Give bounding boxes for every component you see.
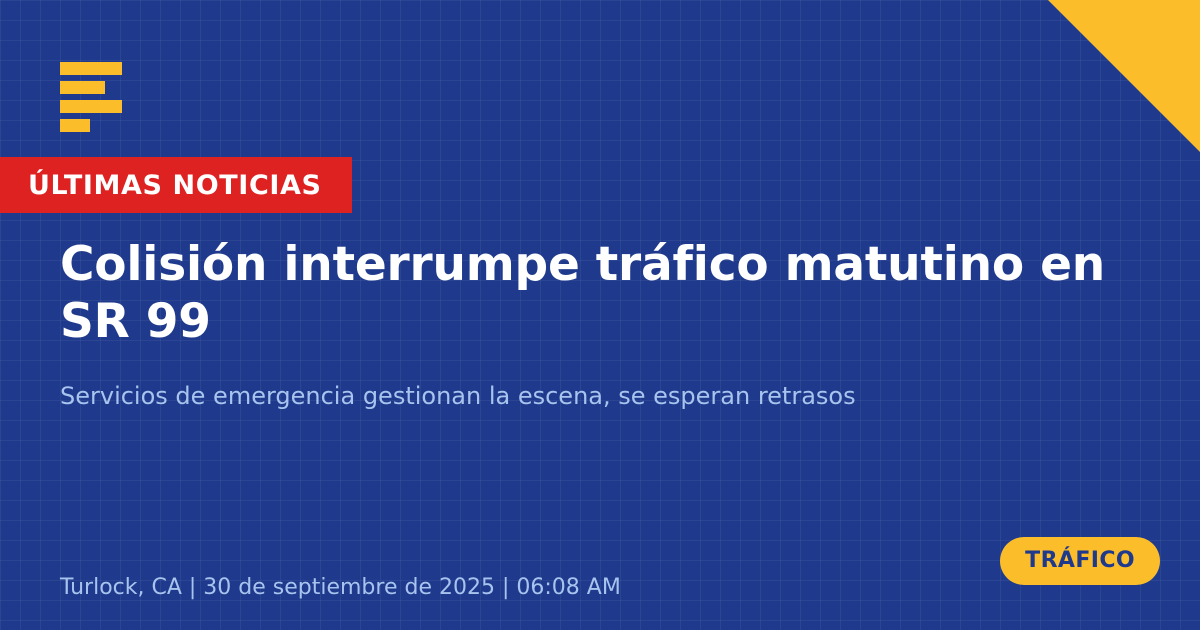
breaking-news-badge: ÚLTIMAS NOTICIAS	[0, 157, 352, 213]
news-graphic-card: ÚLTIMAS NOTICIAS Colisión interrumpe trá…	[0, 0, 1200, 630]
headline-subtitle: Servicios de emergencia gestionan la esc…	[60, 381, 1060, 412]
headline-title: Colisión interrumpe tráfico matutino en …	[60, 236, 1175, 351]
category-badge-label: TRÁFICO	[1025, 550, 1135, 572]
category-badge: TRÁFICO	[1000, 537, 1160, 585]
meta-location-date-time: Turlock, CA | 30 de septiembre de 2025 |…	[60, 575, 621, 601]
brand-logo	[60, 62, 122, 132]
logo-bar-1	[60, 62, 122, 75]
logo-bar-3	[60, 100, 122, 113]
corner-accent-triangle	[1048, 0, 1200, 152]
breaking-news-label: ÚLTIMAS NOTICIAS	[28, 172, 322, 199]
logo-bar-4	[60, 119, 90, 132]
logo-bar-2	[60, 81, 105, 94]
